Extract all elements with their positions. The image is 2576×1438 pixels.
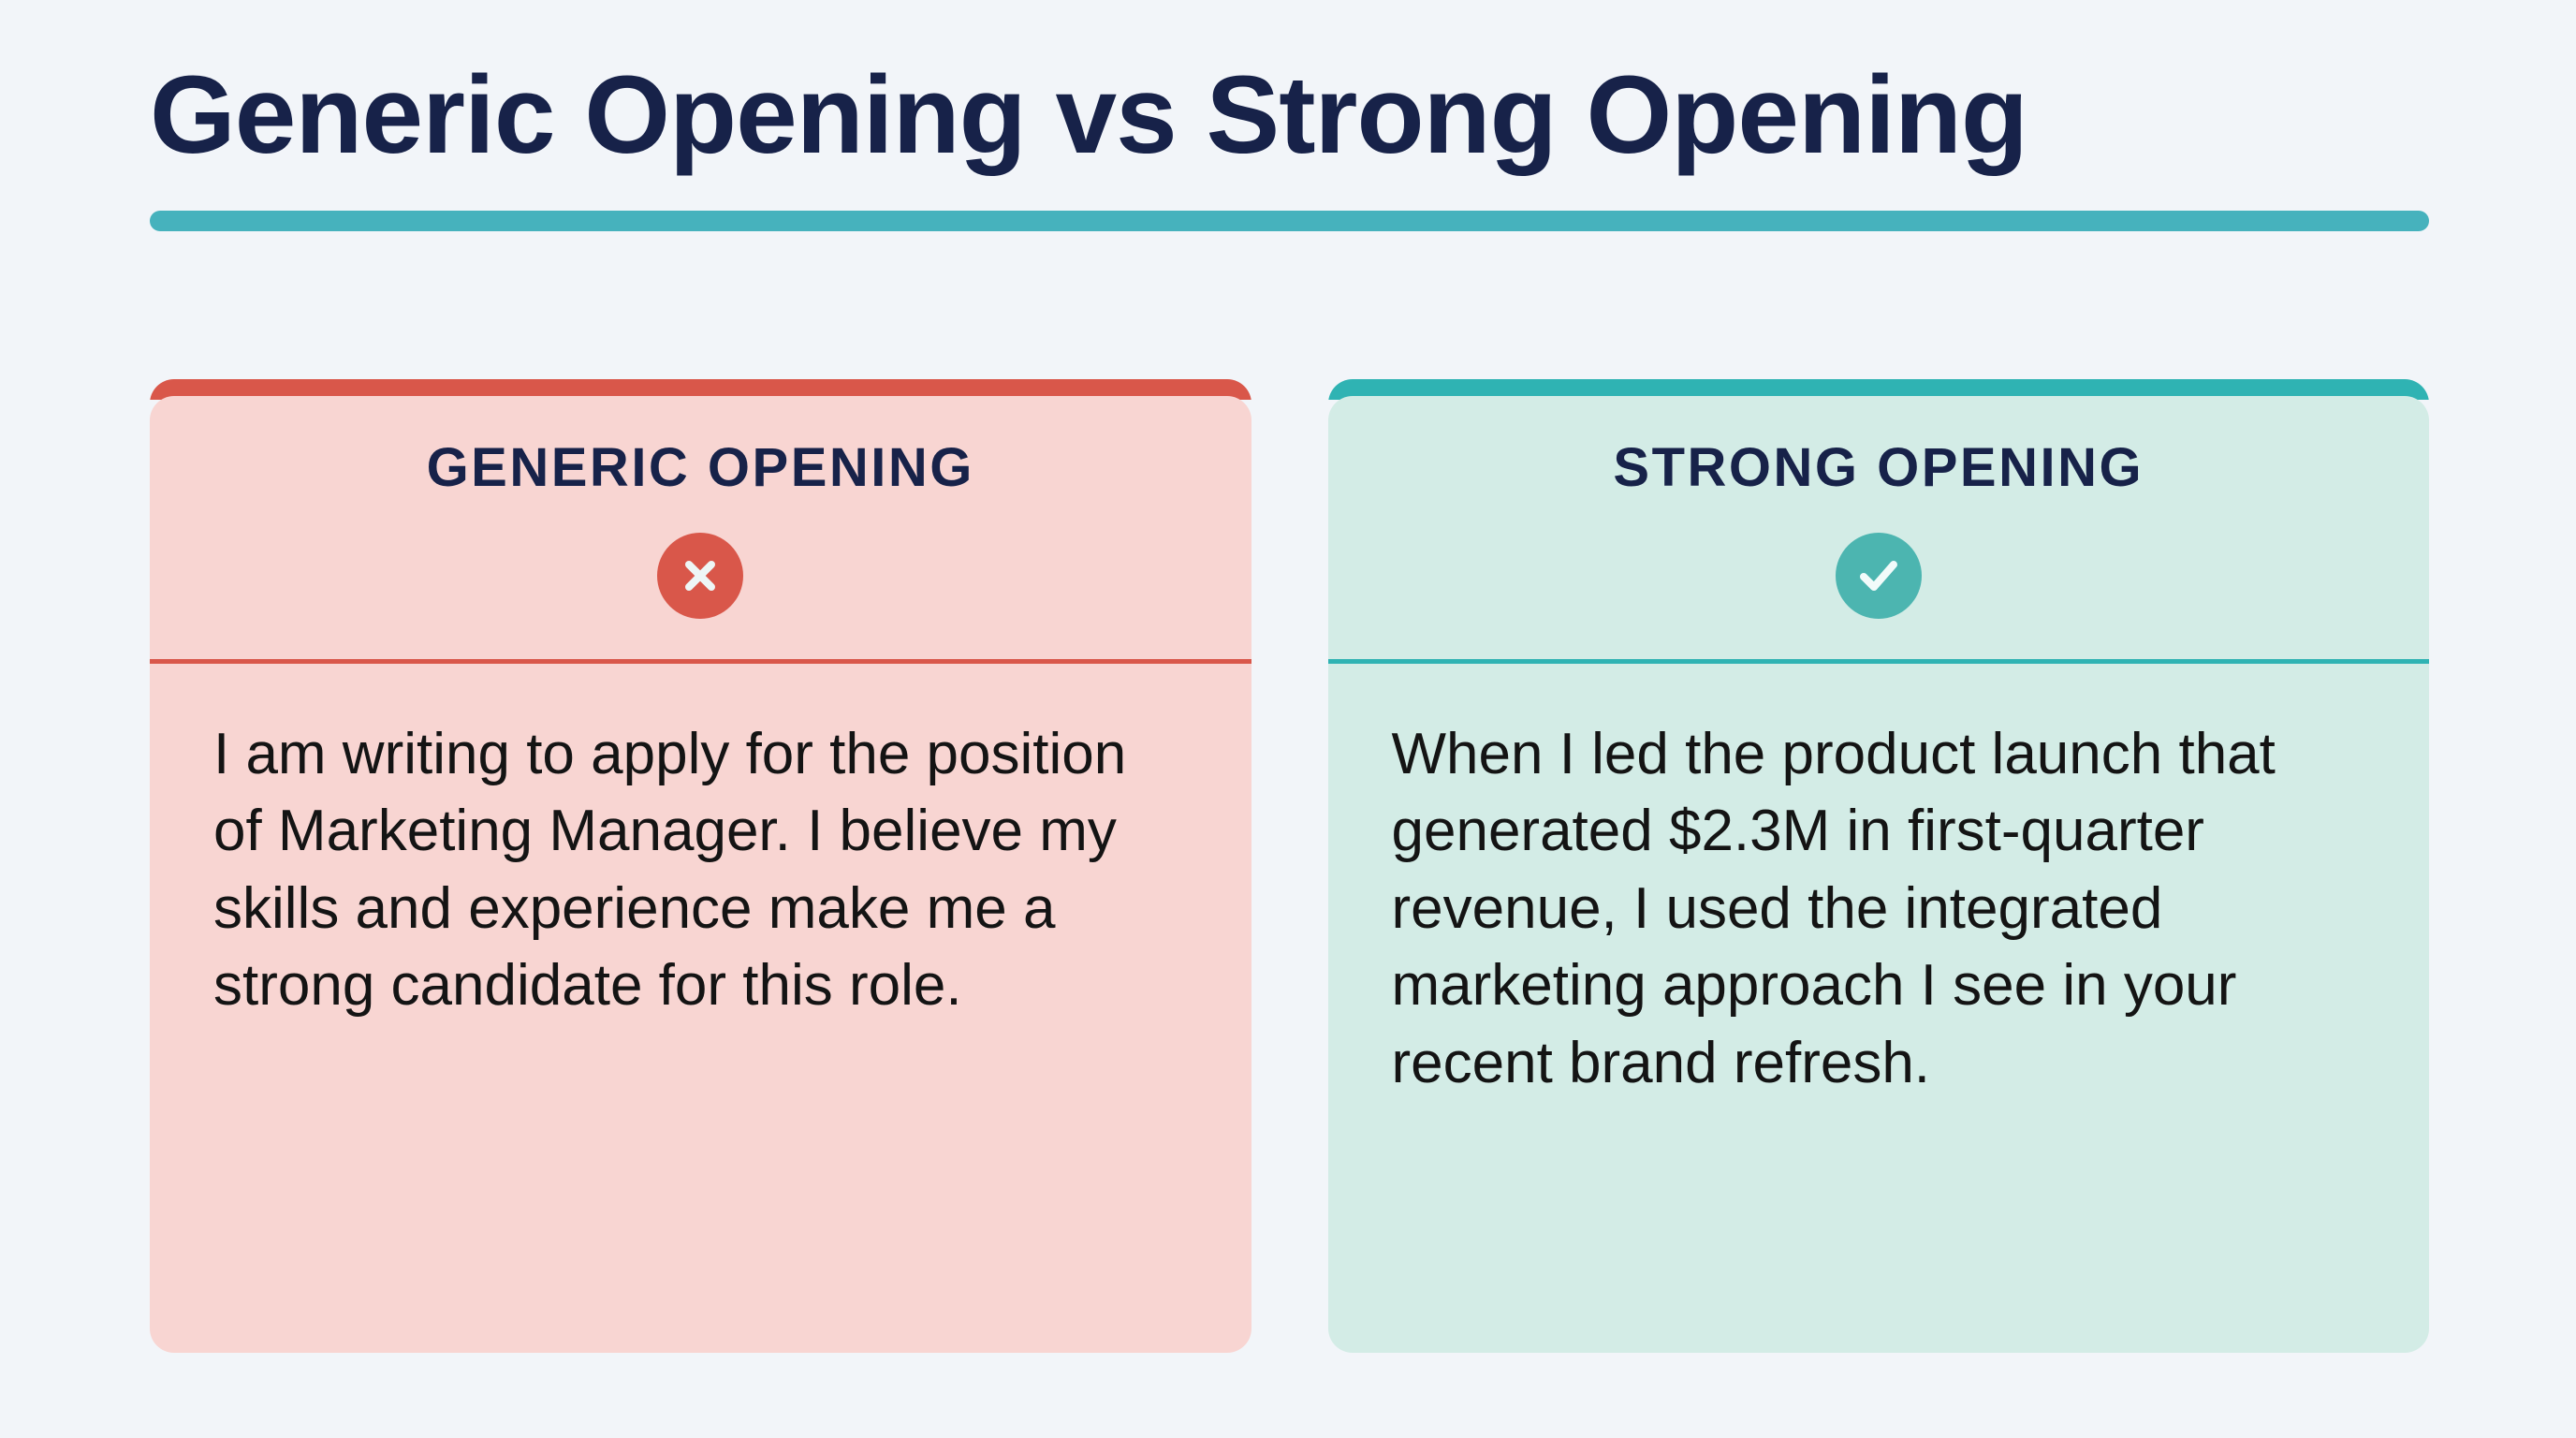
card-body-generic: I am writing to apply for the position o… <box>150 664 1251 1353</box>
card-title-strong: STRONG OPENING <box>1328 441 2430 495</box>
card-generic-opening: GENERIC OPENING I am writing to apply fo… <box>150 379 1251 1353</box>
card-header-generic: GENERIC OPENING <box>150 396 1251 619</box>
page-header: Generic Opening vs Strong Opening <box>150 56 2429 231</box>
icon-container-strong <box>1328 533 2430 619</box>
title-underline-rule <box>150 211 2429 231</box>
card-title-generic: GENERIC OPENING <box>150 441 1251 495</box>
x-circle-icon <box>657 533 743 619</box>
icon-container-generic <box>150 533 1251 619</box>
card-inner-strong: STRONG OPENING When I led the product la… <box>1328 396 2430 1353</box>
page-title: Generic Opening vs Strong Opening <box>150 56 2429 175</box>
card-inner-generic: GENERIC OPENING I am writing to apply fo… <box>150 396 1251 1353</box>
card-header-strong: STRONG OPENING <box>1328 396 2430 619</box>
card-body-text-strong: When I led the product launch that gener… <box>1392 716 2366 1102</box>
card-body-text-generic: I am writing to apply for the position o… <box>213 716 1188 1025</box>
check-circle-icon <box>1836 533 1922 619</box>
card-body-strong: When I led the product launch that gener… <box>1328 664 2430 1353</box>
card-strong-opening: STRONG OPENING When I led the product la… <box>1328 379 2430 1353</box>
comparison-cards-container: GENERIC OPENING I am writing to apply fo… <box>150 379 2429 1353</box>
